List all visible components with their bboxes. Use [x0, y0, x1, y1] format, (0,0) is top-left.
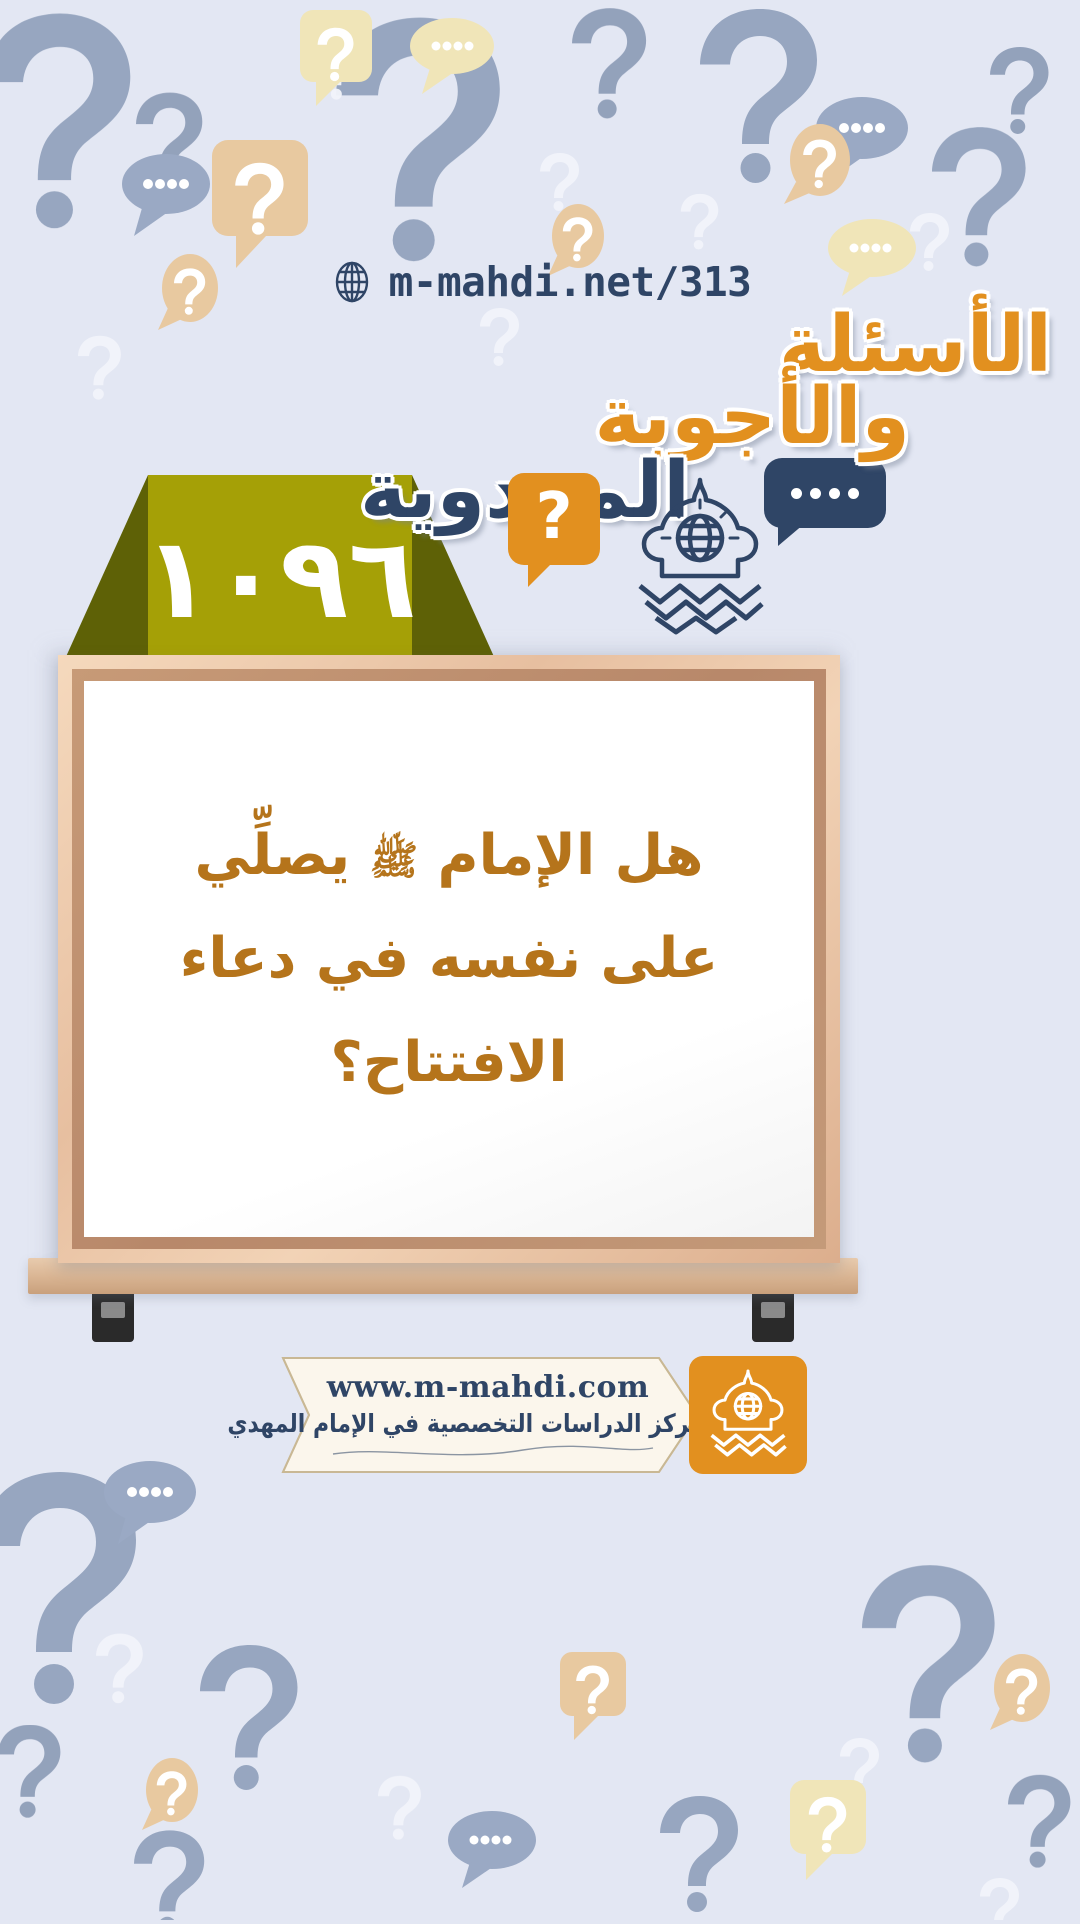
footer-banner: www.m-mahdi.com مركز الدراسات التخصصية ف…: [273, 1350, 703, 1480]
tan-square-bubble: [212, 140, 308, 268]
shelf-bracket-right: [752, 1292, 794, 1342]
bottom-bubbles: [104, 1461, 866, 1888]
board-shelf: [28, 1258, 858, 1294]
yellow-square-bubble: [300, 10, 372, 106]
question-part-4: الافتتاح؟: [330, 1030, 567, 1095]
footer-center-name-text: مركز الدراسات التخصصية في الإمام المهدي: [273, 1410, 703, 1439]
board-white-face: هل الإمام ﷺ يصلِّي على نفسه في دعاء الاف…: [84, 681, 814, 1237]
question-board: هل الإمام ﷺ يصلِّي على نفسه في دعاء الاف…: [58, 655, 840, 1263]
honorific-calligraphy-icon: ﷺ: [370, 838, 418, 884]
dots-bubble-left: [122, 154, 210, 236]
question-part-1: هل الإمام: [438, 823, 704, 888]
question-mark-icon: ?: [508, 473, 600, 565]
footer-logo-icon[interactable]: [689, 1356, 807, 1474]
board-inner-frame: هل الإمام ﷺ يصلِّي على نفسه في دعاء الاف…: [72, 669, 826, 1249]
question-mark-glyph: ?: [535, 485, 572, 549]
footer-logo-bar: www.m-mahdi.com مركز الدراسات التخصصية ف…: [0, 1350, 1080, 1480]
question-part-3: على نفسه في دعاء: [180, 926, 719, 991]
question-part-2: يصلِّي: [194, 823, 350, 888]
question-text: هل الإمام ﷺ يصلِّي على نفسه في دعاء الاف…: [118, 804, 780, 1115]
dots-bubble-right-upper: [816, 97, 908, 180]
mahdi-center-emblem-icon: [622, 470, 778, 635]
dots-bubble-topright: [410, 18, 494, 94]
footer-url-text[interactable]: www.m-mahdi.com: [273, 1370, 703, 1405]
shelf-bracket-left: [92, 1292, 134, 1342]
